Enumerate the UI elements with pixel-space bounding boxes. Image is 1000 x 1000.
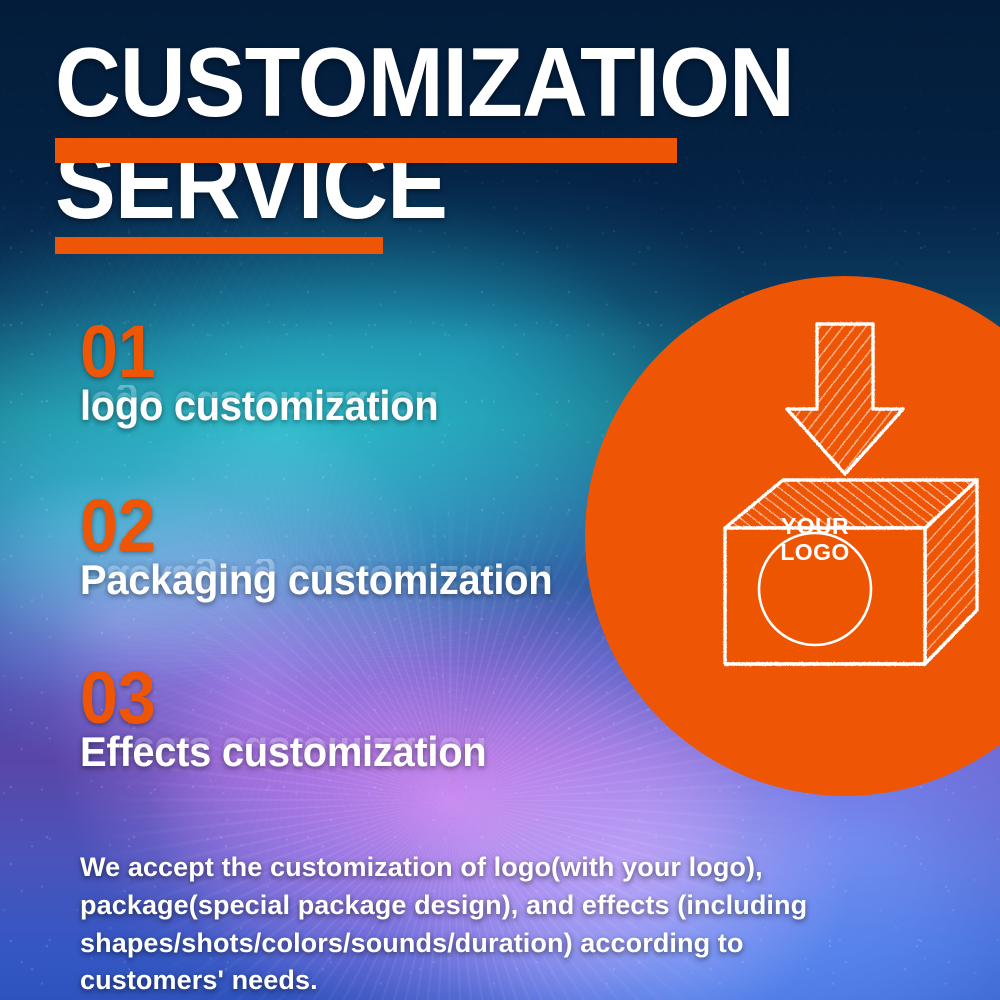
service-item-03: 03 Effects customization Effects customi… [80,668,508,773]
custom-packaging-badge: YOURLOGO [585,276,1000,796]
service-item-03-number: 03 [80,668,474,729]
service-item-01-label: logo customization logo customization [80,385,438,427]
headline-line-1: CUSTOMIZATION [55,40,706,124]
service-item-02: 02 Packaging customization Packaging cus… [80,496,577,601]
poster-body-paragraph: We accept the customization of logo(with… [80,849,850,1000]
poster-headline: CUSTOMIZATION SERVICE [55,40,755,227]
service-item-03-label: Effects customization Effects customizat… [80,731,486,773]
service-item-01: 01 logo customization logo customization [80,322,457,427]
service-item-02-label: Packaging customization Packaging custom… [80,559,552,601]
service-item-02-number: 02 [80,496,537,557]
service-item-03-label-reflection: Effects customization [80,731,486,773]
headline-underline-bar-2 [55,237,383,254]
customization-service-poster: CUSTOMIZATION SERVICE 01 logo customizat… [0,0,1000,1000]
service-item-02-label-reflection: Packaging customization [80,559,552,601]
service-item-01-label-reflection: logo customization [80,385,438,427]
headline-underline-bar-1 [55,138,677,163]
service-item-01-number: 01 [80,322,427,383]
